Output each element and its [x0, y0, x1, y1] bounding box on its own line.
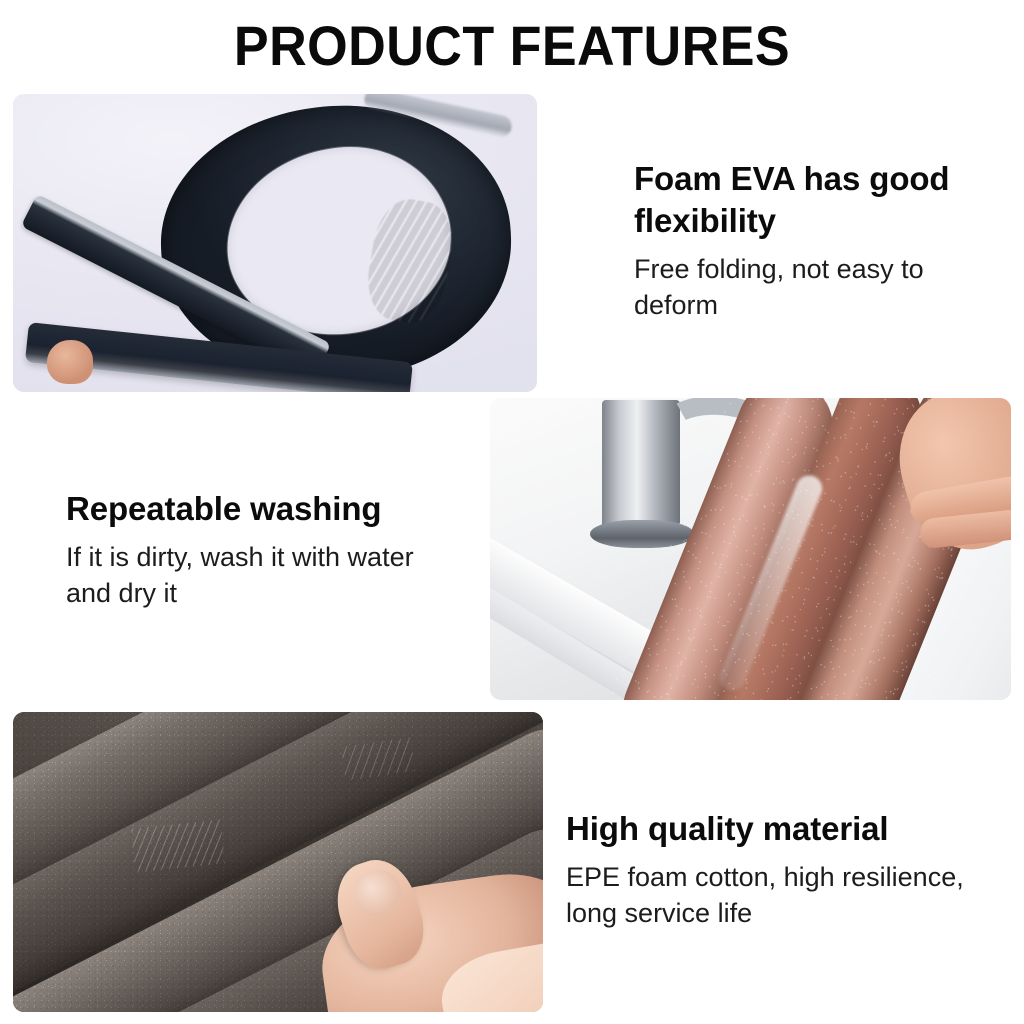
feature-heading: High quality material	[566, 808, 1016, 850]
page-title: PRODUCT FEATURES	[36, 16, 988, 76]
feature-text-repeatable-washing: Repeatable washing If it is dirty, wash …	[66, 488, 466, 611]
feature-description: EPE foam cotton, high resilience, long s…	[566, 859, 1016, 931]
feature-image-repeatable-washing	[490, 398, 1011, 700]
feature-text-high-quality-material: High quality material EPE foam cotton, h…	[566, 808, 1016, 931]
feature-image-high-quality-material	[13, 712, 543, 1012]
feature-text-foam-eva-flexibility: Foam EVA has good flexibility Free foldi…	[634, 158, 1004, 323]
product-features-infographic: PRODUCT FEATURES	[0, 0, 1024, 1024]
feature-description: Free folding, not easy to deform	[634, 251, 1004, 323]
eva-foam-loop	[51, 104, 503, 384]
feature-heading: Repeatable washing	[66, 488, 466, 530]
foam-surface-scratches	[131, 819, 225, 872]
feature-description: If it is dirty, wash it with water and d…	[66, 539, 466, 611]
feature-heading: Foam EVA has good flexibility	[634, 158, 1004, 242]
hand-holding-foam	[47, 340, 93, 384]
feature-image-foam-eva-flexibility	[13, 94, 537, 392]
